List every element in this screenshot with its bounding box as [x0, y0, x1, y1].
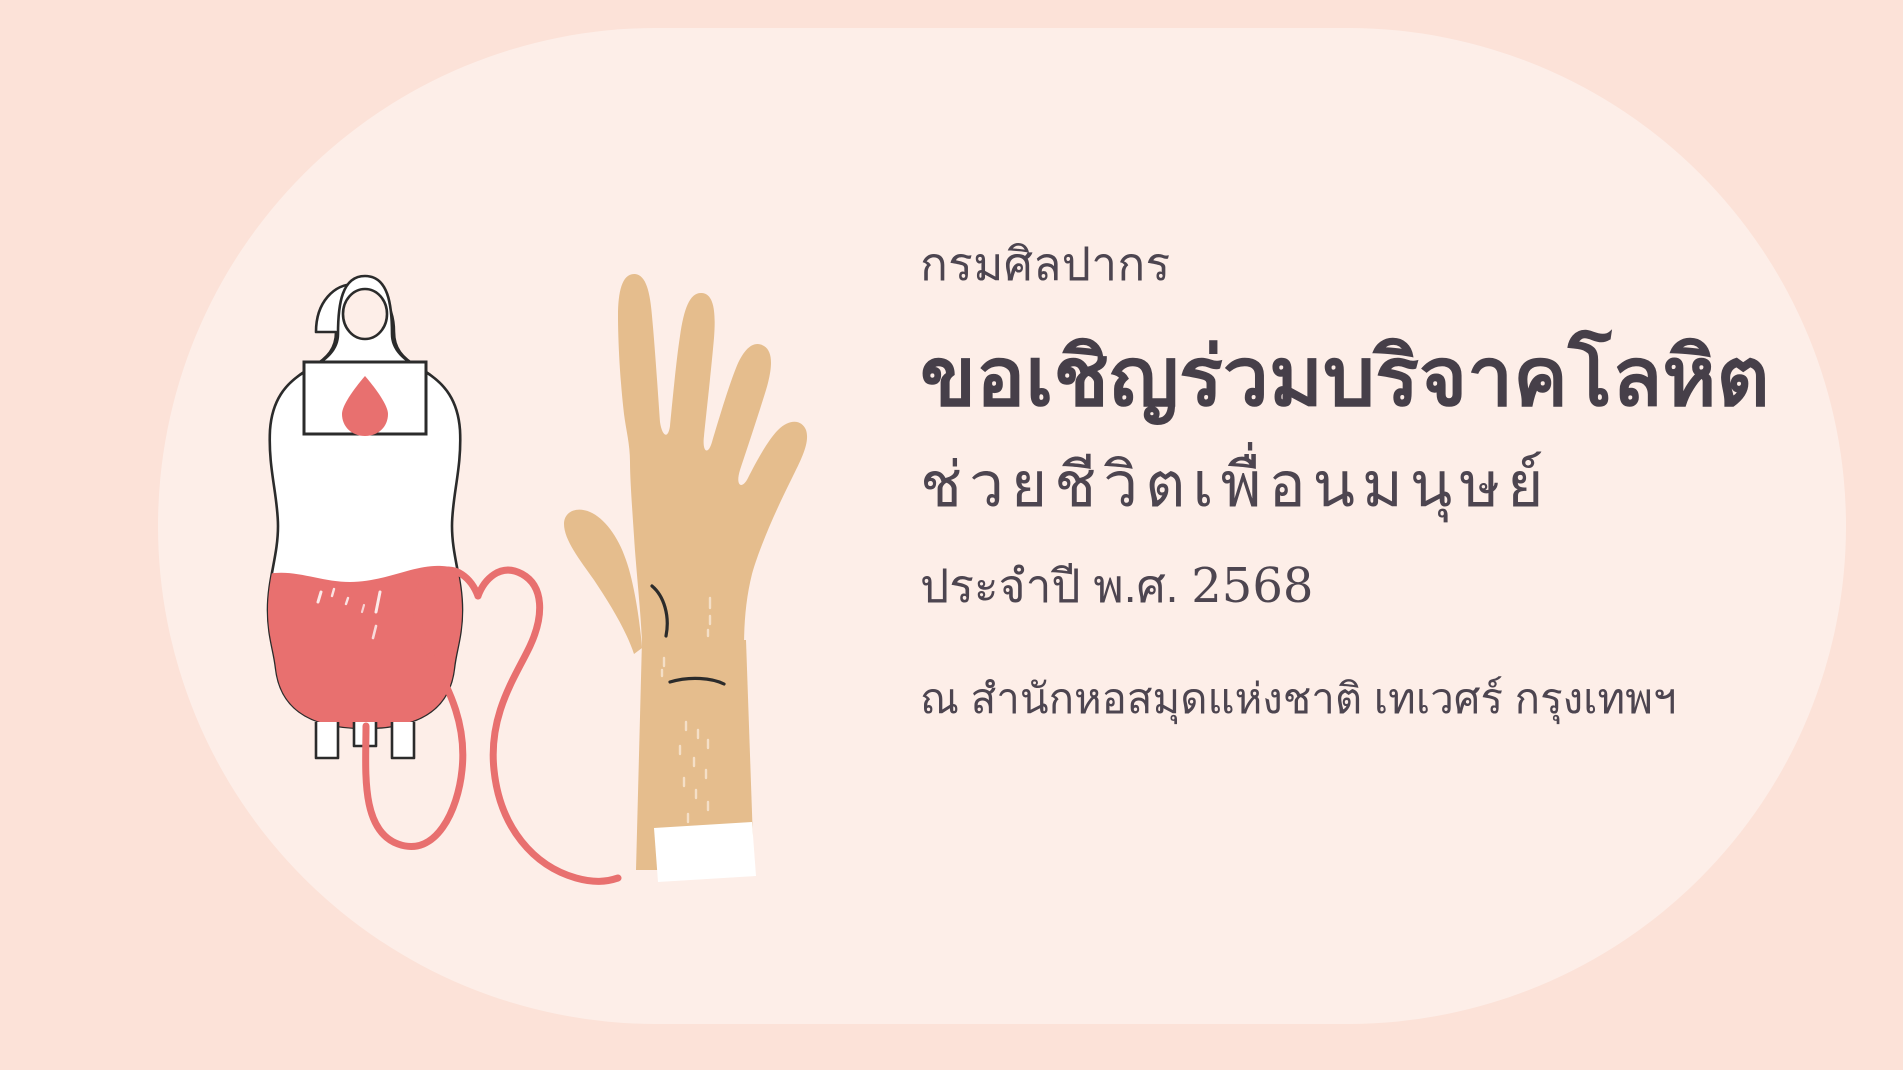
blood-donation-illustration: [190, 230, 750, 850]
blood-fill: [260, 566, 472, 740]
headline: ขอเชิญร่วมบริจาคโลหิต: [920, 332, 1880, 424]
tube-right-strand: [478, 570, 618, 881]
bag-port-left: [316, 722, 338, 758]
arm-bandage: [654, 822, 756, 882]
poster-canvas: กรมศิลปากร ขอเชิญร่วมบริจาคโลหิต ช่วยชีว…: [0, 0, 1903, 1070]
year-prefix: ประจำปี พ.ศ.: [920, 560, 1191, 612]
subheadline: ช่วยชีวิตเพื่อนมนุษย์: [920, 449, 1880, 522]
bag-port-right: [392, 722, 414, 758]
hand-thumb: [564, 510, 642, 654]
blood-bag: [260, 276, 472, 758]
hanger-hole-icon: [343, 289, 387, 339]
organization-name: กรมศิลปากร: [920, 236, 1880, 294]
year-numerals: 2568: [1191, 558, 1313, 614]
poster-text-block: กรมศิลปากร ขอเชิญร่วมบริจาคโลหิต ช่วยชีว…: [920, 236, 1880, 727]
venue-line: ณ สำนักหอสมุดแห่งชาติ เทเวศร์ กรุงเทพฯ: [920, 672, 1880, 727]
year-line: ประจำปี พ.ศ. 2568: [920, 556, 1880, 616]
